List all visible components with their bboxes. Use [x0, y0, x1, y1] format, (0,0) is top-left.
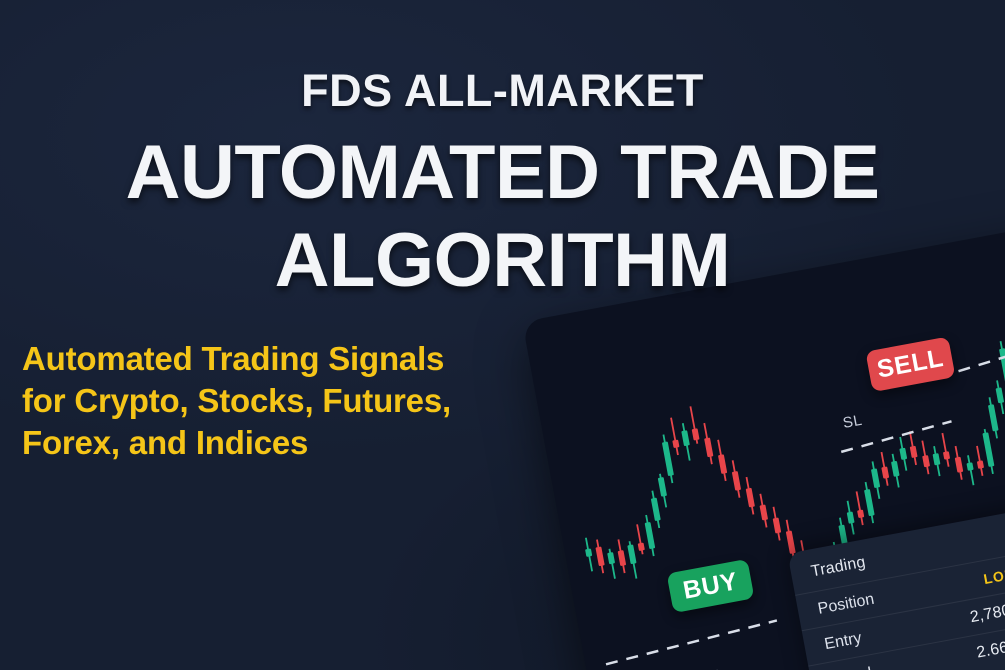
hero-copy: FDS ALL-MARKET AUTOMATED TRADE ALGORITHM — [0, 0, 1005, 299]
candle-body — [607, 552, 615, 564]
entry-value: 2,780.50 — [969, 597, 1005, 626]
candle-body — [847, 511, 855, 523]
candle-body — [704, 437, 713, 457]
sl-label: SL — [842, 412, 864, 432]
candle-body — [881, 466, 889, 478]
candle-body — [988, 404, 999, 431]
candle-body — [922, 455, 930, 467]
subheadline: Automated Trading Signals for Crypto, St… — [22, 338, 542, 465]
candle-body — [857, 510, 864, 519]
candle-body — [595, 546, 604, 566]
candle-body — [773, 517, 782, 533]
candle-body — [681, 430, 690, 446]
subheadline-line-2: for Crypto, Stocks, Futures, — [22, 380, 542, 422]
candle-wick — [671, 418, 678, 455]
candle-body — [891, 461, 900, 477]
candle-body — [651, 498, 661, 521]
tp-level-line — [604, 620, 779, 664]
candle-wick — [857, 491, 863, 525]
candle-wick — [942, 433, 948, 467]
poster-canvas: BUY SELL TP SL SL Trading Position LONG … — [0, 0, 1005, 670]
candle-body — [645, 522, 656, 549]
candle-body — [692, 428, 700, 440]
page-title-line-1: AUTOMATED TRADE — [0, 135, 1005, 211]
position-label: Position — [816, 590, 875, 618]
candle-body — [955, 457, 964, 473]
sell-signal-label: SELL — [875, 344, 946, 385]
candle-body — [618, 550, 627, 566]
candle-body — [627, 544, 636, 564]
candle-body — [933, 453, 941, 465]
kicker-text: FDS ALL-MARKET — [0, 0, 1005, 113]
position-value: LONG — [982, 563, 1005, 587]
candle-body — [585, 548, 592, 557]
candle-body — [658, 477, 667, 497]
candle-body — [759, 504, 768, 520]
candle-body — [999, 348, 1005, 386]
sl-right-level-line — [956, 330, 1005, 371]
candle-body — [672, 440, 679, 449]
candle-body — [864, 489, 875, 516]
candle-body — [718, 454, 727, 474]
candle-body — [966, 462, 973, 471]
candle-body — [871, 468, 880, 488]
candle-body — [746, 488, 755, 508]
candle-body — [732, 471, 741, 491]
entry-label: Entry — [823, 629, 863, 654]
subheadline-line-1: Automated Trading Signals — [22, 338, 542, 380]
stop-loss-value: 2.667:00 — [975, 633, 1005, 662]
candle-body — [982, 432, 994, 467]
candle-body — [996, 387, 1005, 403]
candle-body — [662, 441, 674, 476]
subheadline-line-3: Forex, and Indices — [22, 422, 542, 464]
page-title-line-2: ALGORITHM — [0, 223, 1005, 299]
candle-body — [977, 460, 984, 469]
candle-body — [943, 451, 950, 460]
candle-body — [910, 446, 918, 458]
candle-body — [899, 448, 907, 460]
stop-loss-label: Stop L — [830, 663, 879, 670]
candle-body — [786, 530, 796, 553]
candle-body — [638, 543, 645, 552]
buy-signal-label: BUY — [681, 567, 741, 606]
